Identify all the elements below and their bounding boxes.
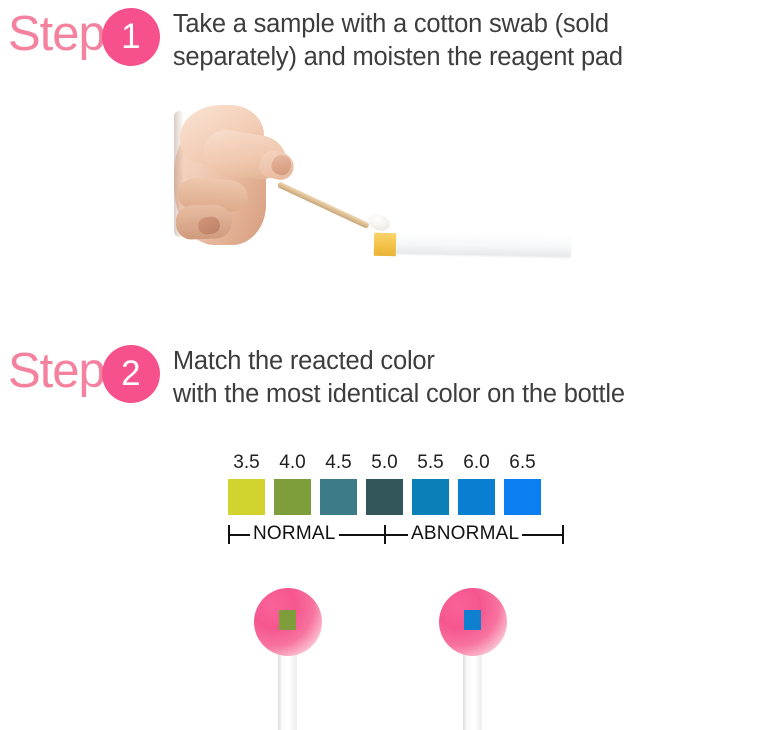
- ph-swatch-4.0: [274, 479, 311, 515]
- step-2-word: Step: [8, 343, 105, 400]
- step-2-number: 2: [121, 356, 140, 393]
- ph-swatch-6.0: [458, 479, 495, 515]
- range-label-abnormal: ABNORMAL: [408, 522, 522, 546]
- cotton-swab-photo: [160, 95, 590, 285]
- ph-label-3.5: 3.5: [228, 452, 265, 476]
- step-1-word: Step: [8, 6, 105, 63]
- cotton-swab-tip: [366, 212, 392, 234]
- range-label-normal: NORMAL: [250, 522, 339, 546]
- test-strip-body: [375, 232, 571, 257]
- result-strip-abnormal: [435, 588, 535, 728]
- ph-label-5.0: 5.0: [366, 452, 403, 476]
- ph-range-bar: NORMAL ABNORMAL: [228, 522, 564, 548]
- ph-label-6.0: 6.0: [458, 452, 495, 476]
- ph-swatch-5.5: [412, 479, 449, 515]
- ph-label-4.0: 4.0: [274, 452, 311, 476]
- ph-color-swatches: [228, 479, 564, 515]
- hand-illustration: [174, 101, 296, 246]
- result-reagent-pad: [464, 610, 481, 630]
- step-1-header: Step 1 Take a sample with a cotton swab …: [8, 6, 623, 74]
- step-1-instruction: Take a sample with a cotton swab (sold s…: [173, 6, 623, 74]
- ph-swatch-5.0: [366, 479, 403, 515]
- reagent-pad: [374, 233, 396, 256]
- step-2-number-badge: 2: [102, 345, 160, 403]
- result-reagent-pad: [279, 610, 296, 630]
- ph-swatch-6.5: [504, 479, 541, 515]
- ph-label-6.5: 6.5: [504, 452, 541, 476]
- step-1-number: 1: [121, 19, 140, 56]
- ph-label-5.5: 5.5: [412, 452, 449, 476]
- ph-color-chart: 3.54.04.55.05.56.06.5 NORMAL ABNORMAL: [228, 452, 564, 548]
- ph-swatch-4.5: [320, 479, 357, 515]
- step-2-instruction: Match the reacted color with the most id…: [173, 343, 625, 411]
- result-strip-normal: [250, 588, 350, 728]
- ph-swatch-3.5: [228, 479, 265, 515]
- ph-label-4.5: 4.5: [320, 452, 357, 476]
- step-2-header: Step 2 Match the reacted color with the …: [8, 343, 625, 411]
- ph-value-labels: 3.54.04.55.05.56.06.5: [228, 452, 564, 476]
- step-1-number-badge: 1: [102, 8, 160, 66]
